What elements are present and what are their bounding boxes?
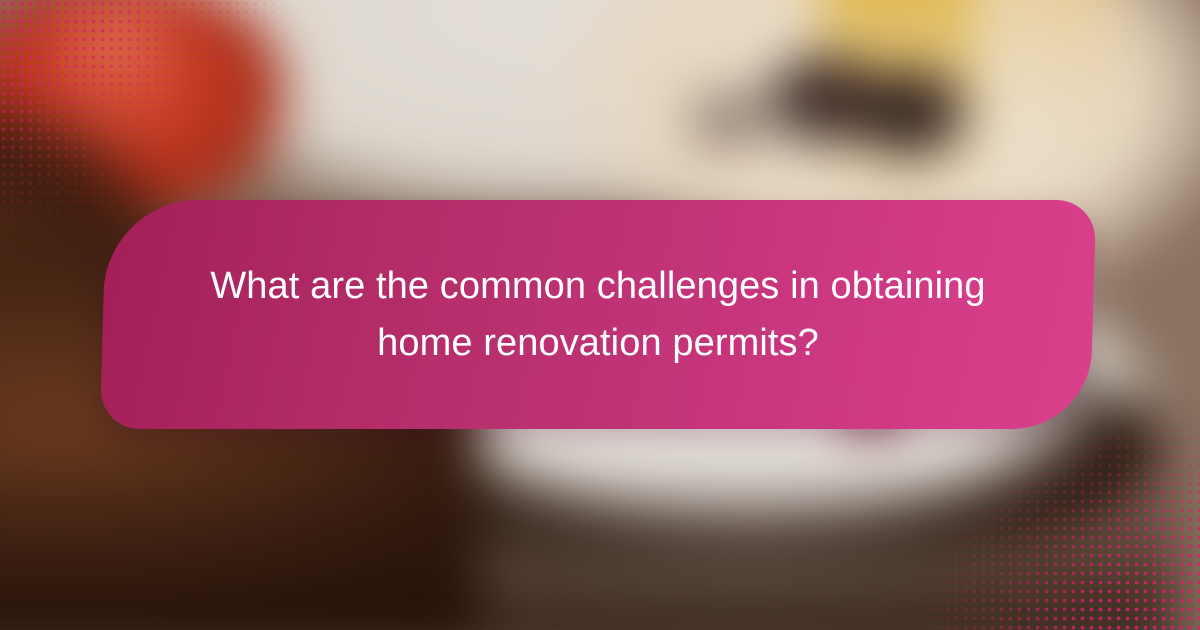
question-card-inner: What are the common challenges in obtain… — [103, 200, 1093, 429]
question-card: What are the common challenges in obtain… — [100, 200, 1096, 429]
background-blob-golden-glass-secondary — [1000, 0, 1120, 130]
background-blob-bottom-shadow — [0, 440, 1180, 630]
share-card-canvas: What are the common challenges in obtain… — [0, 0, 1200, 630]
question-title: What are the common challenges in obtain… — [198, 258, 998, 372]
background-blob-blackberry-right — [850, 70, 970, 160]
